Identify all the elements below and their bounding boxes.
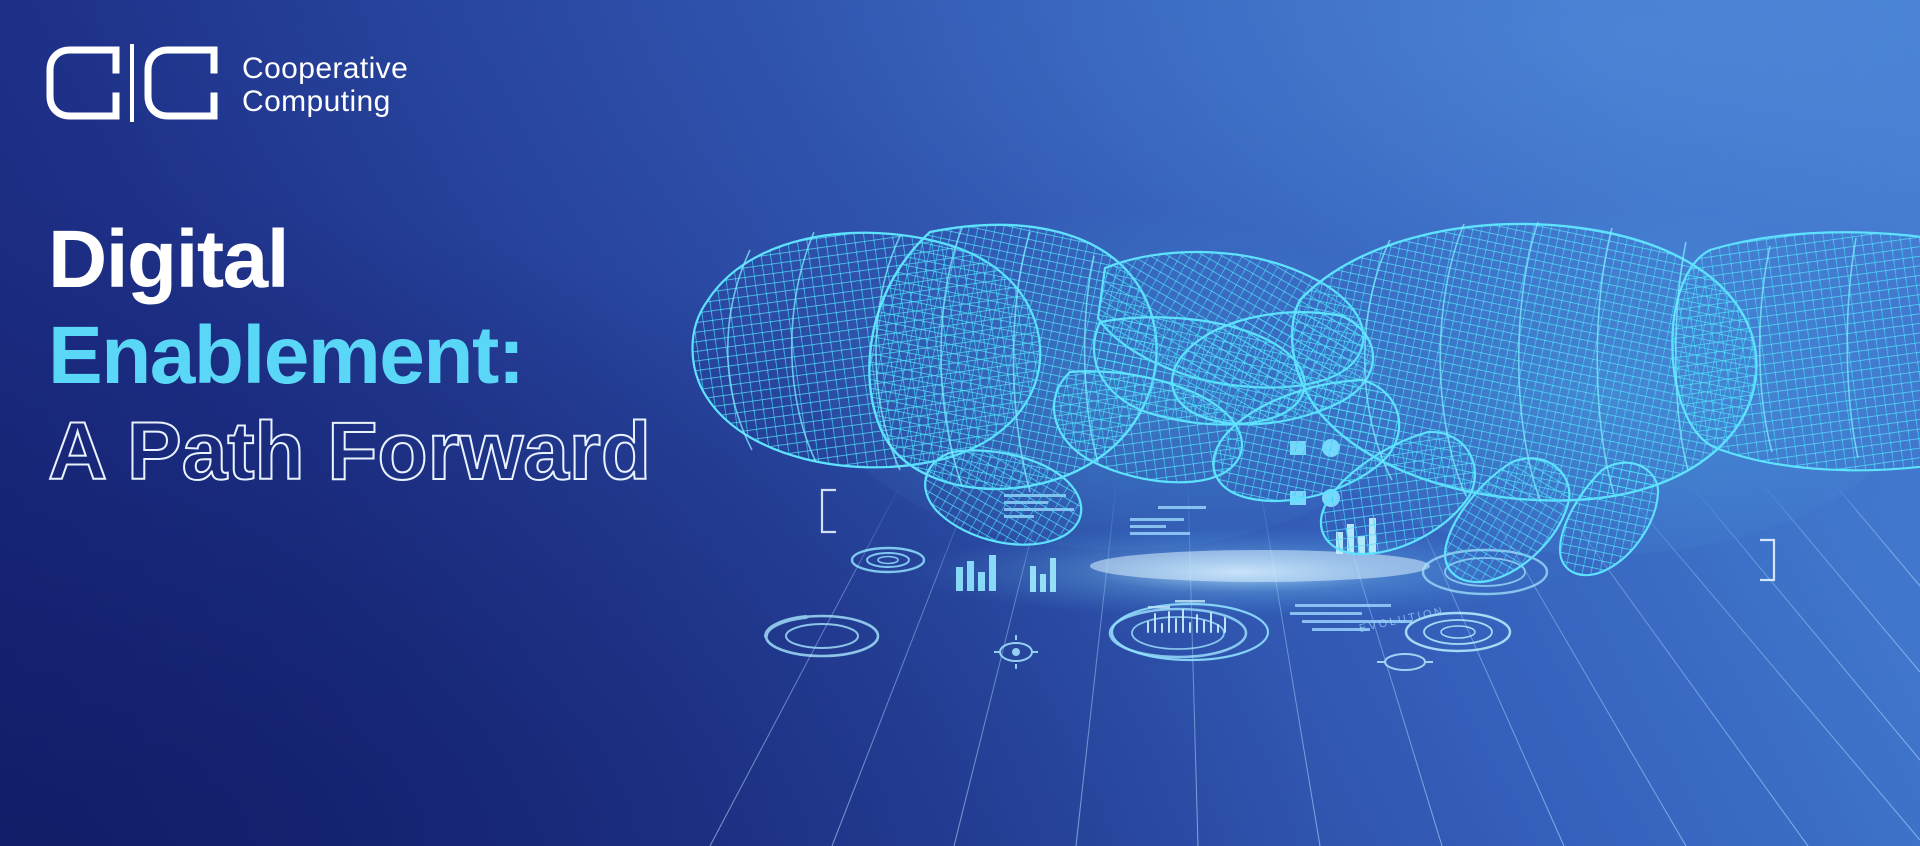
hud-eye-icon bbox=[994, 635, 1038, 669]
brand-wordmark: Cooperative Computing bbox=[242, 54, 408, 117]
cc-monogram-icon bbox=[44, 44, 226, 127]
hero-banner: EVOLUTION bbox=[0, 0, 1920, 846]
brand-logo[interactable]: Cooperative Computing bbox=[44, 44, 408, 127]
hand-right-forearm bbox=[1672, 232, 1920, 470]
artwork-panel: EVOLUTION bbox=[600, 0, 1920, 846]
brand-name-line-1: Cooperative bbox=[242, 54, 408, 84]
hud-dial-b bbox=[766, 616, 878, 656]
hud-target-icon bbox=[1377, 654, 1433, 670]
page-title: Digital Enablement: A Path Forward bbox=[48, 212, 651, 500]
brand-name-line-2: Computing bbox=[242, 87, 408, 117]
headline-line-3: A Path Forward bbox=[48, 404, 651, 500]
hud-dial-a bbox=[852, 548, 924, 572]
headline-line-2: Enablement: bbox=[48, 308, 651, 404]
headline-line-1: Digital bbox=[48, 212, 651, 308]
